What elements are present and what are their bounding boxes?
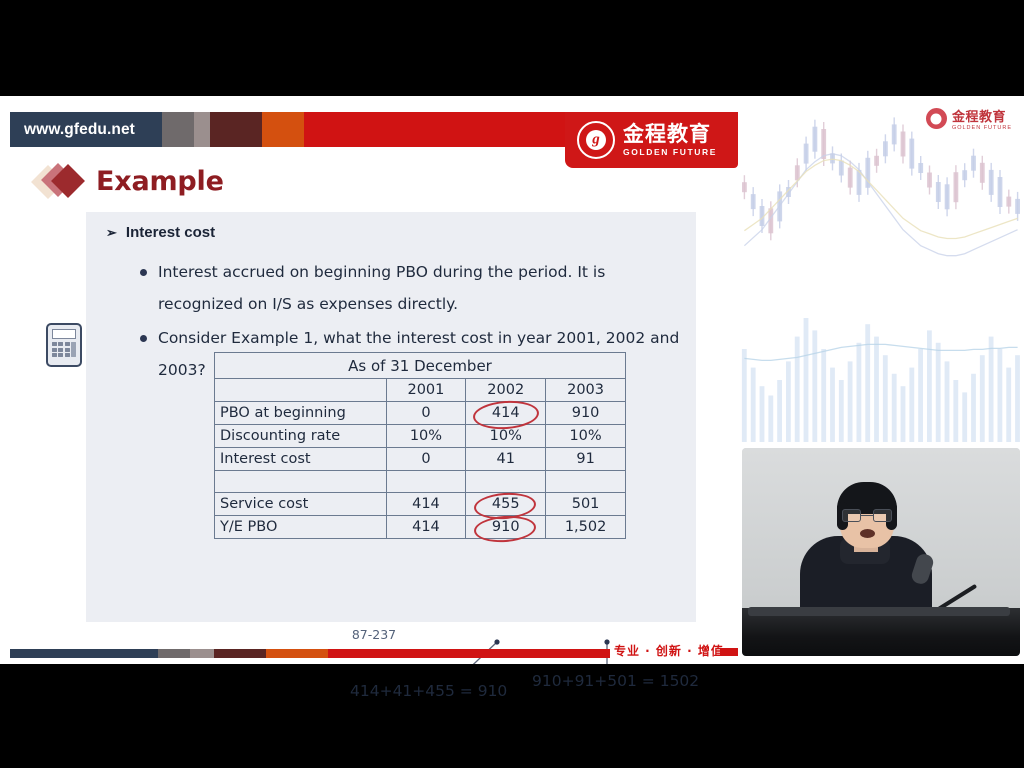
row-label [215,471,387,493]
financial-table: As of 31 December 2001 2002 2003 PBO at … [214,352,626,539]
candlestick-series [742,117,1020,240]
brand-name-en: GOLDEN FUTURE [623,148,717,157]
annotation-right: 910+91+501 = 1502 [532,672,699,690]
header-color-block-2 [194,112,210,147]
corner-brand-cn: 金程教育 [952,106,1012,125]
table-row: Y/E PBO 414 910 1,502 [215,516,626,539]
table-row-spacer [215,471,626,493]
list-item: Interest accrued on beginning PBO during… [138,256,684,320]
circle-annotation: 910 [488,519,524,535]
corner-logo-text: 金程教育 GOLDEN FUTURE [952,106,1012,131]
column-header-2002: 2002 [466,379,546,402]
footer-dash [720,648,738,656]
brand-logo-text: 金程教育 GOLDEN FUTURE [623,124,717,157]
topic-heading: ➢ Interest cost [106,224,215,241]
column-header-2001: 2001 [386,379,466,402]
cell-value: 10% [466,425,546,448]
podium-lip [748,607,1010,616]
slide-title-row: Example [36,164,224,198]
footer-tagline: 专业 · 创新 · 增值 [614,642,724,659]
circle-annotation: 414 [488,405,524,421]
trend-line-lower [744,344,1017,360]
table-row: Discounting rate 10% 10% 10% [215,425,626,448]
cell-value: 0 [386,448,466,471]
lecture-content-area: www.gfedu.net g 金程教育 GOLDEN FUTURE [0,96,1024,664]
header-color-block-1 [162,112,194,147]
footer-color-bar [10,649,610,658]
table-row: Service cost 414 455 501 [215,493,626,516]
cell-value: 501 [546,493,626,516]
brand-logo: g 金程教育 GOLDEN FUTURE [565,112,738,168]
cell-value: 414 [386,493,466,516]
table-row: PBO at beginning 0 414 910 [215,402,626,425]
volume-bars [742,318,1020,442]
cell-value-circled: 455 [466,493,546,516]
header-color-block-3 [210,112,262,147]
cell-value-circled: 414 [466,402,546,425]
corner-seal-icon [926,108,947,129]
website-url: www.gfedu.net [10,112,162,147]
row-label: Y/E PBO [215,516,387,539]
row-label: PBO at beginning [215,402,387,425]
header-color-block-4 [262,112,304,147]
annotation-left: 414+41+455 = 910 [350,682,507,700]
circle-annotation: 455 [488,496,524,512]
column-header-2003: 2003 [546,379,626,402]
arrow-right-icon: ➢ [106,225,117,241]
instructor-video-feed[interactable] [740,446,1022,658]
table-corner-cell [215,379,387,402]
corner-brand-en: GOLDEN FUTURE [952,125,1012,131]
financial-table-wrapper: As of 31 December 2001 2002 2003 PBO at … [214,352,626,539]
presentation-slide: www.gfedu.net g 金程教育 GOLDEN FUTURE [10,112,738,664]
stock-chart-svg [740,100,1022,442]
slide-body-panel: ➢ Interest cost Interest accrued on begi… [86,212,696,622]
cell-value: 91 [546,448,626,471]
corner-brand-logo: 金程教育 GOLDEN FUTURE [926,106,1012,131]
cell-value [466,471,546,493]
cell-value: 41 [466,448,546,471]
instructor-mouth [860,529,875,538]
table-caption: As of 31 December [215,353,626,379]
table-row: Interest cost 0 41 91 [215,448,626,471]
background-stock-chart: 金程教育 GOLDEN FUTURE [740,100,1022,442]
cell-value-circled: 910 [466,516,546,539]
row-label: Service cost [215,493,387,516]
cell-value: 1,502 [546,516,626,539]
cell-value: 910 [546,402,626,425]
screen: www.gfedu.net g 金程教育 GOLDEN FUTURE [0,0,1024,768]
calculator-icon [46,323,82,367]
row-label: Interest cost [215,448,387,471]
trend-line-upper [744,154,1017,256]
page-number: 87-237 [10,627,738,642]
glasses-icon [842,509,892,522]
row-label: Discounting rate [215,425,387,448]
cell-value: 10% [546,425,626,448]
table-header-row: 2001 2002 2003 [215,379,626,402]
cell-value [546,471,626,493]
cell-value [386,471,466,493]
table-caption-row: As of 31 December [215,353,626,379]
brand-name-cn: 金程教育 [623,124,717,145]
topic-label: Interest cost [126,224,215,241]
page-title: Example [96,166,224,197]
cell-value: 0 [386,402,466,425]
diamond-icon [36,164,84,198]
cell-value: 10% [386,425,466,448]
cell-value: 414 [386,516,466,539]
seal-icon: g [577,121,615,159]
seal-letter: g [592,132,600,149]
